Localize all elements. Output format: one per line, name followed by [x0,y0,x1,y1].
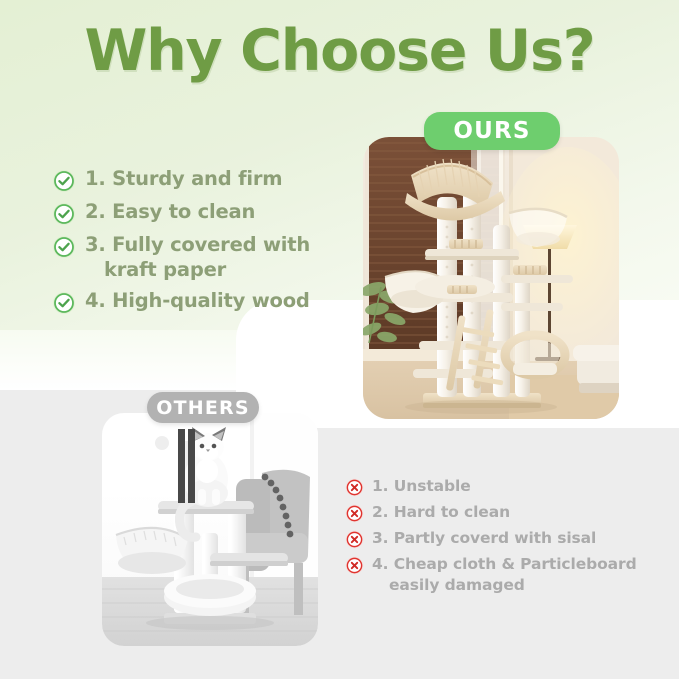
list-item: 4. High-quality wood [52,288,352,315]
list-item-label: 3. Fully covered with kraft paper [85,232,310,282]
list-item-label: 4. High-quality wood [85,288,310,313]
ours-badge: OURS [424,112,560,150]
x-circle-icon [345,478,364,497]
list-item-text: Cheap cloth & Particleboard [394,555,637,573]
page-title: Why Choose Us? [0,22,679,82]
list-item-text: Sturdy and firm [112,167,282,190]
list-item-number: 1. [85,167,106,190]
list-item-text: Fully covered with [112,233,310,256]
list-item-text-line2: easily damaged [372,575,637,596]
list-item-number: 4. [372,555,388,573]
x-circle-icon [345,556,364,575]
list-item: 1. Sturdy and firm [52,166,352,193]
check-circle-icon [52,235,76,259]
ours-product-image [363,137,619,419]
ours-feature-list: 1. Sturdy and firm 2. Easy to clean [52,166,352,321]
list-item-text: High-quality wood [112,289,310,312]
list-item-label: 3. Partly coverd with sisal [372,528,596,549]
list-item: 1. Unstable [345,476,655,497]
others-product-image [102,413,318,646]
list-item-text: Partly coverd with sisal [394,529,596,547]
list-item-number: 3. [372,529,388,547]
others-feature-list: 1. Unstable 2. Hard to clean [345,476,655,601]
list-item-number: 3. [85,233,106,256]
list-item-number: 4. [85,289,106,312]
list-item-label: 4. Cheap cloth & Particleboard easily da… [372,554,637,596]
list-item-number: 1. [372,477,388,495]
x-circle-icon [345,530,364,549]
list-item: 3. Partly coverd with sisal [345,528,655,549]
x-circle-icon [345,504,364,523]
infographic-canvas: Why Choose Us? [0,0,679,679]
check-circle-icon [52,202,76,226]
list-item-label: 2. Hard to clean [372,502,510,523]
list-item-number: 2. [372,503,388,521]
list-item-label: 1. Sturdy and firm [85,166,282,191]
list-item: 2. Hard to clean [345,502,655,523]
list-item-label: 1. Unstable [372,476,471,497]
list-item-label: 2. Easy to clean [85,199,255,224]
list-item: 3. Fully covered with kraft paper [52,232,352,282]
list-item: 4. Cheap cloth & Particleboard easily da… [345,554,655,596]
check-circle-icon [52,291,76,315]
list-item-number: 2. [85,200,106,223]
check-circle-icon [52,169,76,193]
list-item-text: Unstable [394,477,471,495]
list-item: 2. Easy to clean [52,199,352,226]
list-item-text: Hard to clean [394,503,510,521]
list-item-text-line2: kraft paper [85,257,310,282]
list-item-text: Easy to clean [112,200,255,223]
others-badge: OTHERS [147,392,259,423]
